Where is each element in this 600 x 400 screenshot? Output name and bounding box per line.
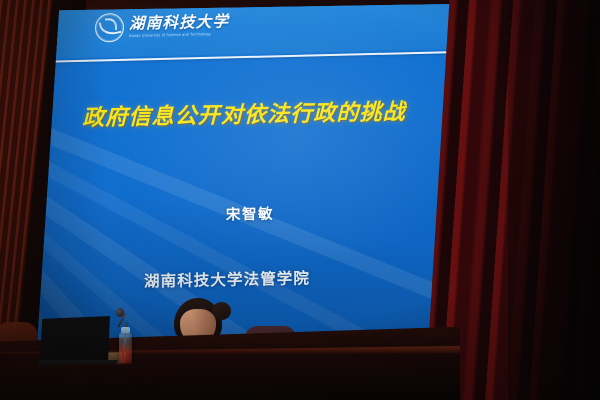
- slide-affiliation: 湖南科技大学法管学院: [144, 266, 310, 291]
- laptop-screen: [40, 316, 110, 364]
- university-name-en: Hunan University of Science and Technolo…: [129, 33, 229, 39]
- slide-title: 政府信息公开对依法行政的挑战: [82, 94, 405, 132]
- microphone-head: [116, 308, 124, 317]
- university-crest-icon: [95, 13, 124, 43]
- water-bottle-cap: [121, 327, 130, 333]
- slide-author: 宋智敏: [226, 202, 274, 224]
- presentation-photo: 湖南科技大学 Hunan University of Science and T…: [0, 0, 600, 400]
- stage-curtain-right-shadow: [508, 0, 600, 400]
- university-logo: 湖南科技大学 Hunan University of Science and T…: [95, 11, 229, 43]
- water-bottle: [119, 332, 132, 366]
- university-name-cn: 湖南科技大学: [129, 15, 229, 33]
